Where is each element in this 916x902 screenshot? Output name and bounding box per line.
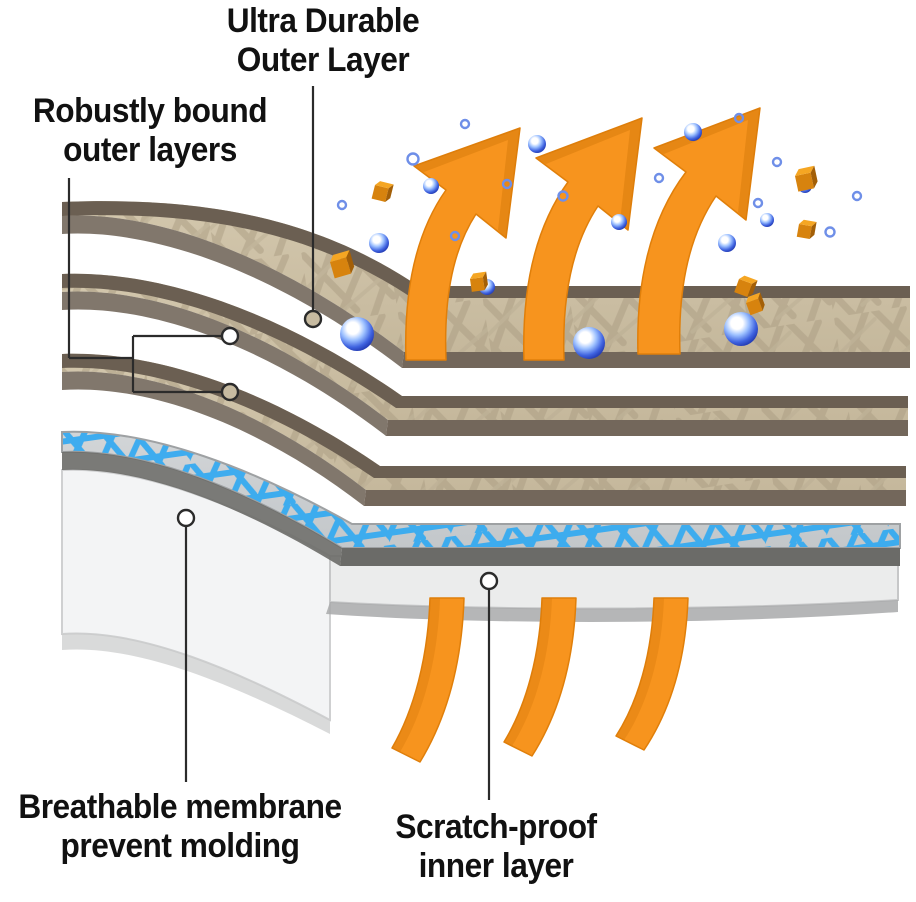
airflow-arrows-down [392, 598, 688, 762]
dirt-cube [372, 180, 394, 203]
dirt-cube [797, 219, 817, 240]
label-breathable-membrane-prevent-molding: Breathable membrane prevent molding [16, 788, 343, 866]
diagram-canvas: Ultra Durable Outer Layer Robustly bound… [0, 0, 916, 902]
dirt-cube [794, 166, 819, 192]
label-ultra-durable-outer-layer: Ultra Durable Outer Layer [205, 2, 441, 80]
label-robustly-bound-outer-layers: Robustly bound outer layers [20, 92, 280, 170]
label-scratch-proof-inner-layer: Scratch-proof inner layer [377, 808, 615, 886]
